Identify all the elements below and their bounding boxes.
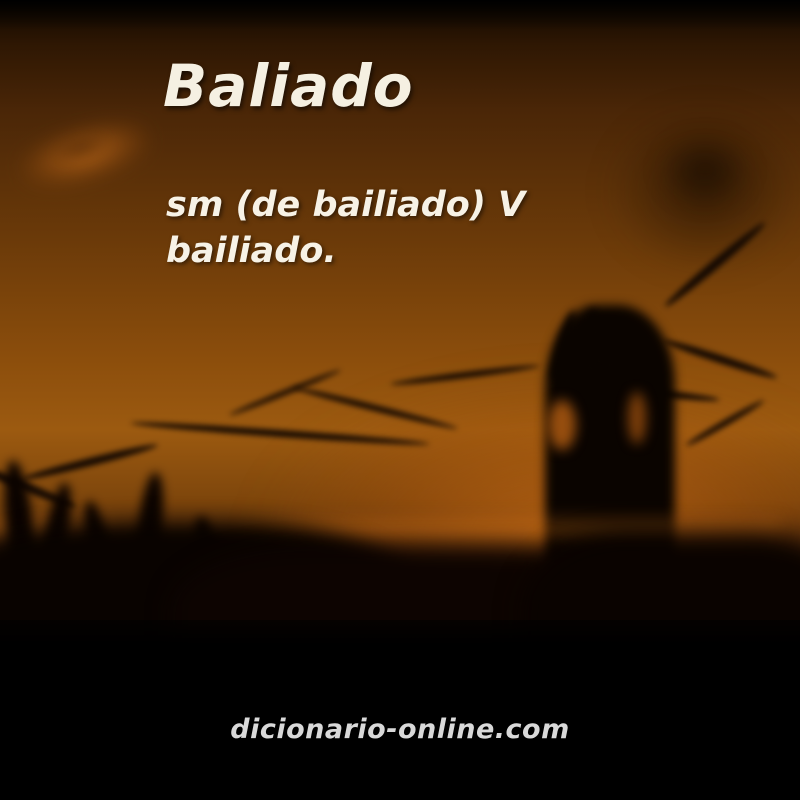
- tree-trunk-gap: [548, 400, 576, 450]
- definition-line-2: bailiado.: [166, 231, 337, 271]
- bottom-black-letterbox: [0, 620, 800, 800]
- word-definition-card: Baliado sm (de bailiado) V bailiado. dic…: [0, 0, 800, 800]
- definition-line-1: sm (de bailiado) V: [166, 185, 525, 225]
- page-title: Baliado: [163, 55, 414, 119]
- tree-trunk-gap: [628, 392, 646, 444]
- site-watermark: dicionario-online.com: [0, 714, 800, 745]
- top-black-letterbox: [0, 0, 800, 30]
- definition-text: sm (de bailiado) V bailiado.: [166, 182, 686, 274]
- background-photo: [0, 0, 800, 800]
